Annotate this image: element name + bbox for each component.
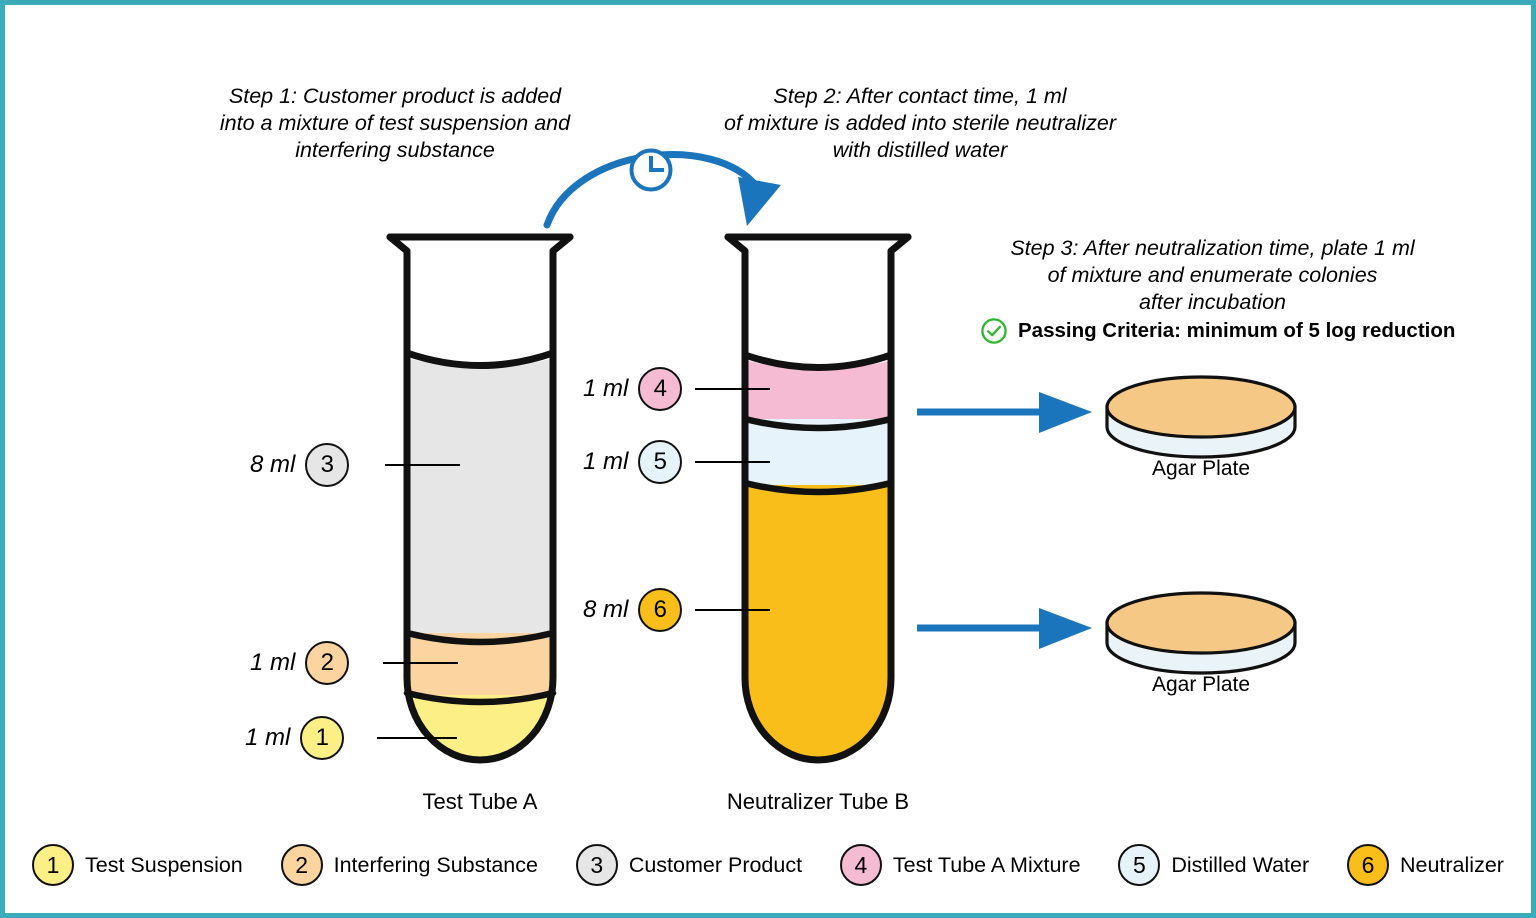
legend-badge-1: 1 xyxy=(32,844,74,886)
tube-b-volume-4: 1 ml xyxy=(583,375,628,403)
tube-b-leader-6 xyxy=(695,590,775,630)
tube-b-marker-5: 1 ml 5 xyxy=(583,440,682,484)
plate-arrow-top xyxy=(917,387,1097,437)
neutralizer-tube-b xyxy=(723,233,913,778)
legend-label-4: Test Tube A Mixture xyxy=(893,853,1081,878)
tube-a-badge-2: 2 xyxy=(305,641,349,685)
legend-badge-6: 6 xyxy=(1347,844,1389,886)
legend-badge-3: 3 xyxy=(576,844,618,886)
diagram-frame: Step 1: Customer product is added into a… xyxy=(0,0,1536,918)
legend-item-5: 5 Distilled Water xyxy=(1118,844,1309,886)
legend-label-1: Test Suspension xyxy=(85,853,243,878)
plate-arrow-bottom xyxy=(917,603,1097,653)
agar-plate-top xyxy=(1101,369,1301,461)
tube-a-marker-3: 8 ml 3 xyxy=(250,443,349,487)
tube-a-volume-3: 8 ml xyxy=(250,451,295,479)
legend-label-3: Customer Product xyxy=(629,853,802,878)
tube-b-badge-6: 6 xyxy=(638,588,682,632)
tube-b-volume-5: 1 ml xyxy=(583,448,628,476)
tube-a-volume-1: 1 ml xyxy=(245,724,290,752)
tube-b-marker-6: 8 ml 6 xyxy=(583,588,682,632)
tube-a-marker-1: 1 ml 1 xyxy=(245,716,344,760)
tube-b-layer-6 xyxy=(733,485,905,778)
tube-a-leader-1 xyxy=(377,718,462,758)
tube-a-layer-3 xyxy=(395,355,567,633)
tube-b-badge-5: 5 xyxy=(638,440,682,484)
legend: 1 Test Suspension 2 Interfering Substanc… xyxy=(10,822,1526,908)
test-tube-a-caption: Test Tube A xyxy=(350,789,610,815)
step-3-text: Step 3: After neutralization time, plate… xyxy=(970,235,1455,316)
agar-plate-bottom xyxy=(1101,585,1301,677)
legend-label-6: Neutralizer xyxy=(1400,853,1504,878)
tube-b-volume-6: 8 ml xyxy=(583,596,628,624)
tube-a-leader-3 xyxy=(385,445,465,485)
legend-badge-5: 5 xyxy=(1118,844,1160,886)
neutralizer-tube-b-caption: Neutralizer Tube B xyxy=(688,789,948,815)
tube-a-marker-2: 1 ml 2 xyxy=(250,641,349,685)
legend-item-4: 4 Test Tube A Mixture xyxy=(840,844,1081,886)
legend-label-2: Interfering Substance xyxy=(334,853,538,878)
tube-b-marker-4: 1 ml 4 xyxy=(583,367,682,411)
tube-a-volume-2: 1 ml xyxy=(250,649,295,677)
passing-criteria: Passing Criteria: minimum of 5 log reduc… xyxy=(980,317,1455,345)
passing-criteria-text: Passing Criteria: minimum of 5 log reduc… xyxy=(1018,319,1455,343)
legend-item-3: 3 Customer Product xyxy=(576,844,802,886)
tube-b-leader-5 xyxy=(695,442,775,482)
tube-a-badge-3: 3 xyxy=(305,443,349,487)
legend-item-6: 6 Neutralizer xyxy=(1347,844,1504,886)
legend-badge-4: 4 xyxy=(840,844,882,886)
tube-a-leader-2 xyxy=(383,643,463,683)
tube-b-badge-4: 4 xyxy=(638,367,682,411)
legend-item-1: 1 Test Suspension xyxy=(32,844,243,886)
agar-plate-top-caption: Agar Plate xyxy=(1071,457,1331,481)
tube-a-badge-1: 1 xyxy=(300,716,344,760)
tube-b-leader-4 xyxy=(695,369,775,409)
check-circle-icon xyxy=(980,317,1008,345)
legend-label-5: Distilled Water xyxy=(1171,853,1309,878)
clock-icon xyxy=(626,145,676,195)
agar-plate-bottom-caption: Agar Plate xyxy=(1071,673,1331,697)
legend-item-2: 2 Interfering Substance xyxy=(281,844,538,886)
test-tube-a xyxy=(385,233,575,778)
legend-badge-2: 2 xyxy=(281,844,323,886)
